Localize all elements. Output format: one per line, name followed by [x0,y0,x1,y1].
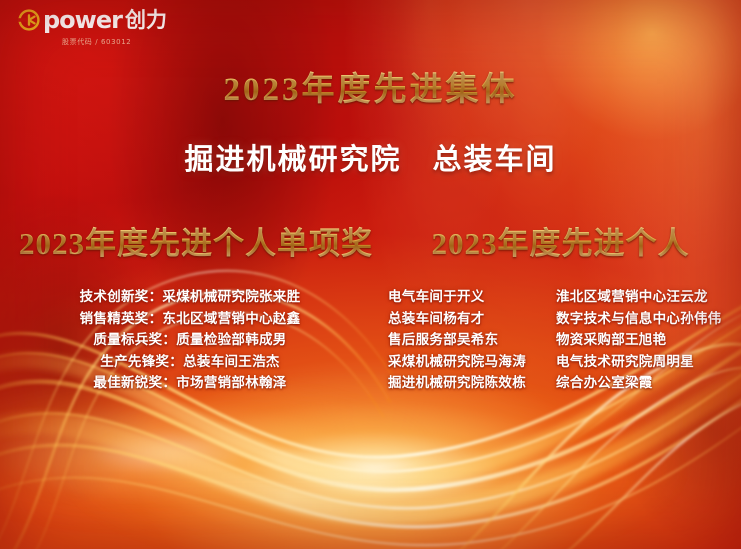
advanced-individual-list: 电气车间于开义 淮北区域营销中心汪云龙 总装车间杨有才 数字技术与信息中心孙伟伟… [380,286,741,394]
logo-wordmark: power [43,8,122,32]
person-name: 电气技术研究院周明星 [556,351,741,373]
table-row: 采煤机械研究院马海涛 电气技术研究院周明星 [388,351,741,373]
person-name: 物资采购部王旭艳 [556,329,741,351]
list-item: 技术创新奖：采煤机械研究院张来胜 [0,286,380,308]
stock-code-label: 股票代码 / 603012 [62,37,208,47]
winner-lists: 技术创新奖：采煤机械研究院张来胜 销售精英奖：东北区域营销中心赵鑫 质量标兵奖：… [0,286,741,394]
single-award-list: 技术创新奖：采煤机械研究院张来胜 销售精英奖：东北区域营销中心赵鑫 质量标兵奖：… [0,286,380,394]
person-name: 综合办公室梁霞 [556,372,741,394]
person-name: 总装车间杨有才 [388,308,556,330]
list-item: 销售精英奖：东北区域营销中心赵鑫 [0,308,380,330]
person-name: 淮北区域营销中心汪云龙 [556,286,741,308]
person-name: 数字技术与信息中心孙伟伟 [556,308,741,330]
power-plug-circle-icon [18,9,40,31]
award-poster: power 创力 股票代码 / 603012 2023年度先进集体 掘进机械研究… [0,0,741,549]
table-row: 售后服务部吴希东 物资采购部王旭艳 [388,329,741,351]
person-name: 售后服务部吴希东 [388,329,556,351]
table-row: 电气车间于开义 淮北区域营销中心汪云龙 [388,286,741,308]
list-item: 最佳新锐奖：市场营销部林翰泽 [0,372,380,394]
table-row: 总装车间杨有才 数字技术与信息中心孙伟伟 [388,308,741,330]
section-heading-advanced-individual: 2023年度先进个人 [392,218,741,263]
logo-row: power 创力 [18,8,208,32]
section-heading-row: 2023年度先进个人单项奖 2023年度先进个人 [0,218,741,263]
page-title: 2023年度先进集体 [0,62,741,110]
person-name: 采煤机械研究院马海涛 [388,351,556,373]
table-row: 掘进机械研究院陈效栋 综合办公室梁霞 [388,372,741,394]
list-item: 生产先锋奖：总装车间王浩杰 [0,351,380,373]
company-logo: power 创力 股票代码 / 603012 [18,8,208,47]
logo-wordmark-cn: 创力 [125,10,167,31]
person-name: 掘进机械研究院陈效栋 [388,372,556,394]
collective-winners: 掘进机械研究院 总装车间 [0,136,741,178]
section-heading-single-awards: 2023年度先进个人单项奖 [0,218,392,263]
person-name: 电气车间于开义 [388,286,556,308]
list-item: 质量标兵奖：质量检验部韩成男 [0,329,380,351]
